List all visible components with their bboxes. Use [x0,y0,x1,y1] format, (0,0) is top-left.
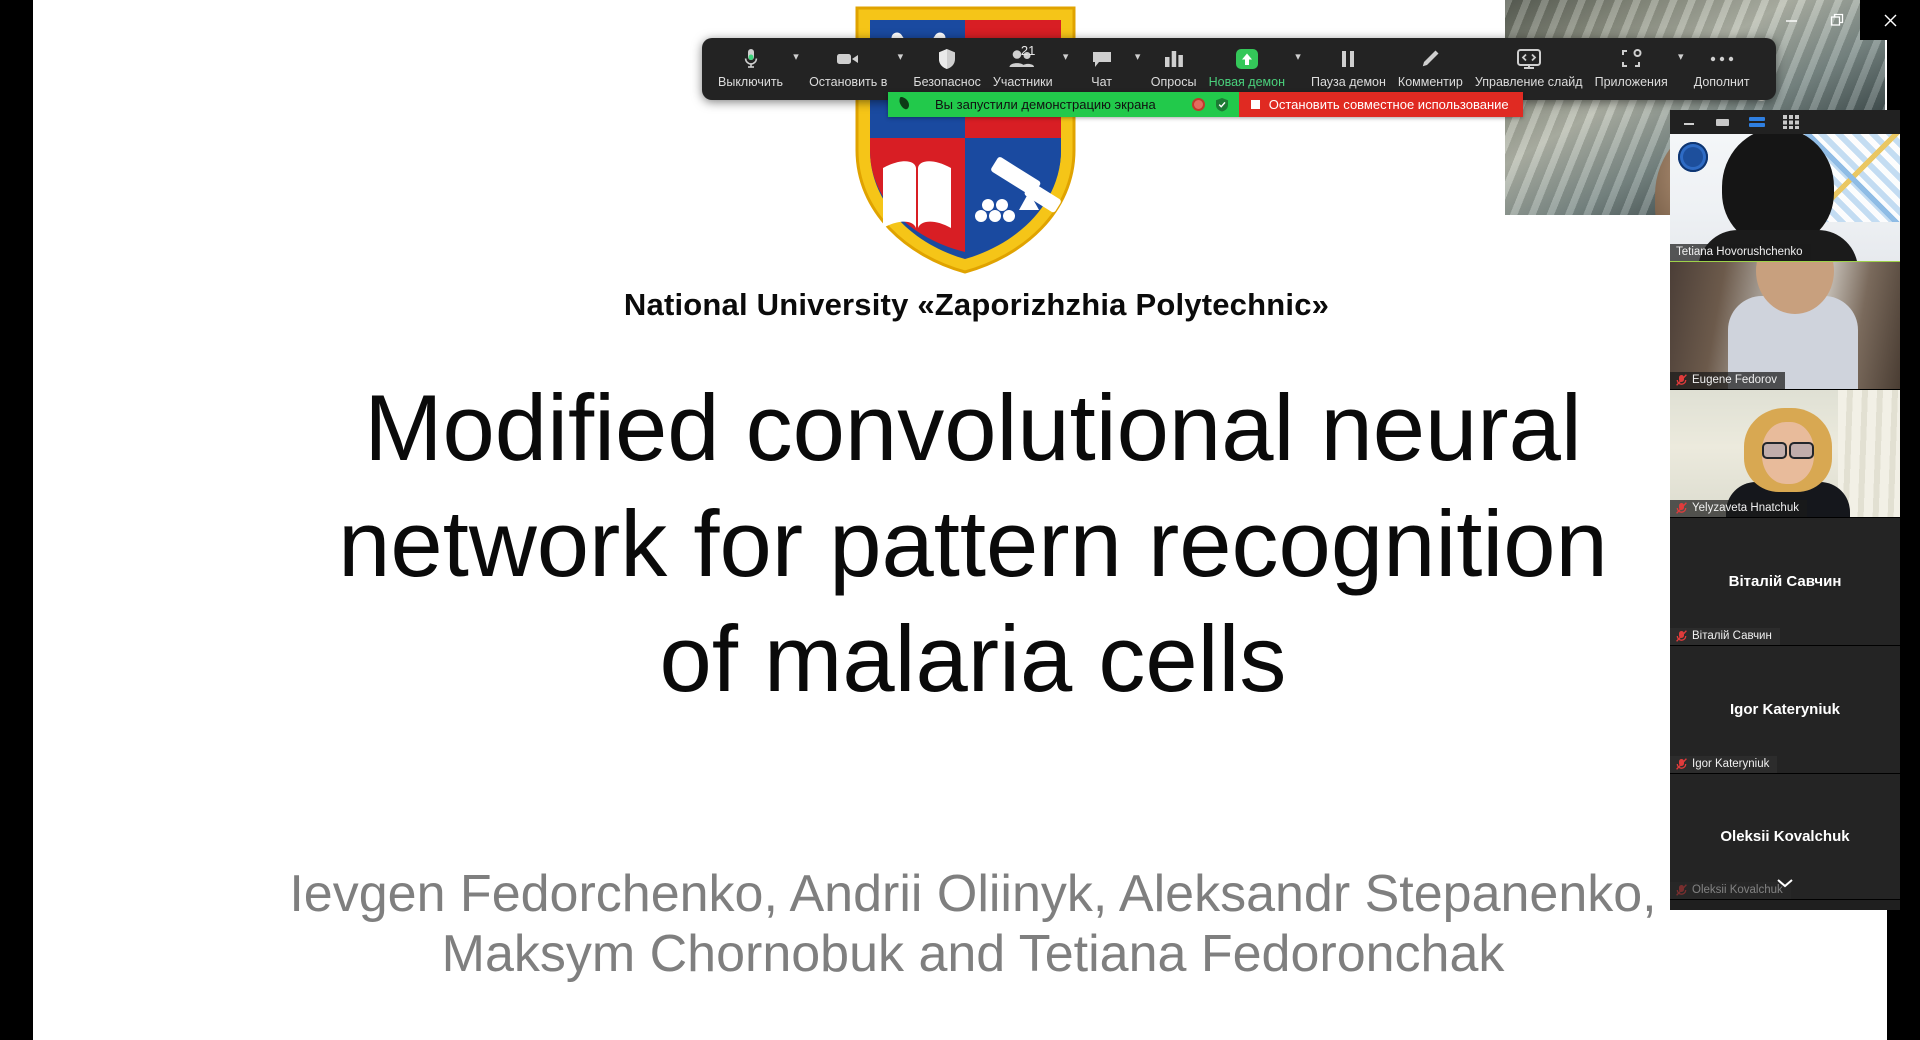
participant-tile[interactable]: Eugene Fedorov [1670,262,1900,390]
participant-name: Eugene Fedorov [1692,374,1777,386]
apps-control-group: Приложения ▾ [1589,44,1688,90]
muted-microphone-icon [1676,758,1687,770]
chevron-down-icon[interactable] [1775,876,1795,893]
toolbar-label-mute: Выключить [718,75,783,90]
gallery-view-button[interactable] [1783,115,1799,129]
participant-tile[interactable]: Yelyzaveta Hnatchuk [1670,390,1900,518]
meeting-toolbar: Выключить ▾ Остановить в ▾ [702,38,1776,100]
participant-name-tag: Igor Kateryniuk [1670,756,1777,773]
shield-secure-icon[interactable] [1215,97,1229,112]
participants-count-badge: 21 [1021,43,1035,58]
slide-authors-line-1: Ievgen Fedorchenko, Andrii Oliinyk, Alek… [93,865,1853,925]
pencil-annotate-icon [1419,46,1441,72]
slide-title: Modified convolutional neural network fo… [93,370,1853,717]
participant-tile[interactable]: Igor Kateryniuk Igor Kateryniuk [1670,646,1900,774]
toolbar-item-stop-video[interactable]: Остановить в [803,44,893,90]
chat-bubble-icon [1091,46,1113,72]
close-button[interactable] [1860,0,1920,40]
toolbar-item-pause-share[interactable]: Пауза демон [1305,44,1392,90]
video-camera-icon [836,46,860,72]
share-options-chevron-down-icon[interactable]: ▾ [1291,44,1305,66]
audio-options-chevron-down-icon[interactable]: ▾ [789,44,803,66]
screen-share-status-bar: Вы запустили демонстрацию экрана Останов… [888,92,1523,117]
toolbar-label-apps: Приложения [1595,75,1668,90]
toolbar-label-stop-video: Остановить в [809,75,887,90]
participant-display-name: Igor Kateryniuk [1670,646,1900,773]
participant-name: Віталій Савчин [1692,630,1772,642]
slide-title-line-1: Modified convolutional neural [93,370,1853,486]
muted-microphone-icon [1676,884,1687,896]
more-ellipsis-icon [1709,46,1735,72]
participant-tile[interactable]: Tetiana Hovorushchenko [1670,134,1900,262]
muted-microphone-icon [1676,630,1687,642]
participant-video [1670,134,1900,261]
window-controls [1715,0,1920,40]
video-control-group: Остановить в ▾ [803,44,907,90]
slide-university-name: National University «Zaporizhzhia Polyte… [33,287,1920,323]
toolbar-label-more: Дополнит [1694,75,1750,90]
minimize-strip-button[interactable] [1683,116,1697,128]
restore-button[interactable] [1814,2,1860,38]
shield-icon [937,46,957,72]
stop-square-icon [1251,100,1260,109]
participant-name: Tetiana Hovorushchenko [1676,246,1803,258]
slide-authors: Ievgen Fedorchenko, Andrii Oliinyk, Alek… [93,865,1853,985]
microphone-icon [743,46,759,72]
toolbar-label-polls: Опросы [1151,75,1197,90]
participant-name: Yelyzaveta Hnatchuk [1692,502,1799,514]
toolbar-label-chat: Чат [1091,75,1112,90]
participant-video [1670,390,1900,517]
toolbar-item-more[interactable]: Дополнит [1688,44,1756,90]
screen-root: National University «Zaporizhzhia Polyte… [0,0,1920,1040]
share-status-message: Вы запустили демонстрацию экрана [921,97,1182,112]
speaker-view-button[interactable] [1749,116,1765,128]
apps-frame-icon [1620,46,1642,72]
pause-icon [1339,46,1357,72]
toolbar-label-slide-control: Управление слайд [1475,75,1583,90]
participants-control-group: 21 Участники ▾ [987,44,1073,90]
participant-name: Oleksii Kovalchuk [1692,884,1783,896]
participant-glasses [1762,442,1814,456]
slide-title-line-2: network for pattern recognition [93,486,1853,602]
chat-control-group: Чат ▾ [1073,44,1145,90]
video-options-chevron-down-icon[interactable]: ▾ [893,44,907,66]
toolbar-item-chat[interactable]: Чат [1073,44,1131,90]
stop-share-label: Остановить совместное использование [1269,97,1509,112]
participant-name-tag: Oleksii Kovalchuk [1670,882,1791,899]
participant-tile[interactable]: Віталій Савчин Віталій Савчин [1670,518,1900,646]
chat-options-chevron-down-icon[interactable]: ▾ [1131,44,1145,66]
muted-microphone-icon [1676,502,1687,514]
toolbar-item-security[interactable]: Безопаснос [907,44,987,90]
slide-authors-line-2: Maksym Chornobuk and Tetiana Fedoronchak [93,925,1853,985]
muted-microphone-icon [1676,374,1687,386]
toolbar-item-new-share[interactable]: Новая демон [1203,44,1291,90]
toolbar-item-slide-control[interactable]: Управление слайд [1469,44,1589,90]
toolbar-label-new-share: Новая демон [1209,75,1285,90]
background-curtain [1838,390,1900,517]
stop-share-button[interactable]: Остановить совместное использование [1239,92,1523,117]
background-emblem [1678,142,1708,172]
share-status-green-section: Вы запустили демонстрацию экрана [888,92,1239,117]
participant-name-tag: Tetiana Hovorushchenko [1670,244,1811,261]
share-control-group: Новая демон ▾ [1203,44,1305,90]
share-screen-up-arrow-icon [1234,46,1260,72]
participant-tile[interactable]: Oleksii Kovalchuk Oleksii Kovalchuk [1670,774,1900,900]
toolbar-label-annotate: Комментир [1398,75,1463,90]
toolbar-item-annotate[interactable]: Комментир [1392,44,1469,90]
toolbar-item-polls[interactable]: Опросы [1145,44,1203,90]
participant-name-tag: Eugene Fedorov [1670,372,1785,389]
toolbar-item-apps[interactable]: Приложения [1589,44,1674,90]
participant-name: Igor Kateryniuk [1692,758,1769,770]
participants-filmstrip: Tetiana Hovorushchenko Eugene Fedorov [1670,110,1900,910]
slide-control-monitor-icon [1516,46,1542,72]
slide-title-line-3: of malaria cells [93,601,1853,717]
participant-name-tag: Віталій Савчин [1670,628,1780,645]
polls-bar-chart-icon [1163,46,1185,72]
apps-options-chevron-down-icon[interactable]: ▾ [1674,44,1688,66]
minimize-button[interactable] [1768,2,1814,38]
toolbar-label-participants: Участники [993,75,1053,90]
participant-name-tag: Yelyzaveta Hnatchuk [1670,500,1807,517]
toolbar-item-participants[interactable]: 21 Участники [987,44,1059,90]
audio-control-group: Выключить ▾ [712,44,803,90]
phone-icon [898,96,911,114]
record-dot-icon[interactable] [1192,98,1205,111]
participant-video [1670,262,1900,389]
restore-strip-button[interactable] [1715,116,1731,128]
toolbar-item-mute[interactable]: Выключить [712,44,789,90]
toolbar-label-security: Безопаснос [913,75,981,90]
filmstrip-header [1670,110,1900,134]
participant-display-name: Віталій Савчин [1670,518,1900,645]
toolbar-label-pause-share: Пауза демон [1311,75,1386,90]
participants-options-chevron-down-icon[interactable]: ▾ [1059,44,1073,66]
